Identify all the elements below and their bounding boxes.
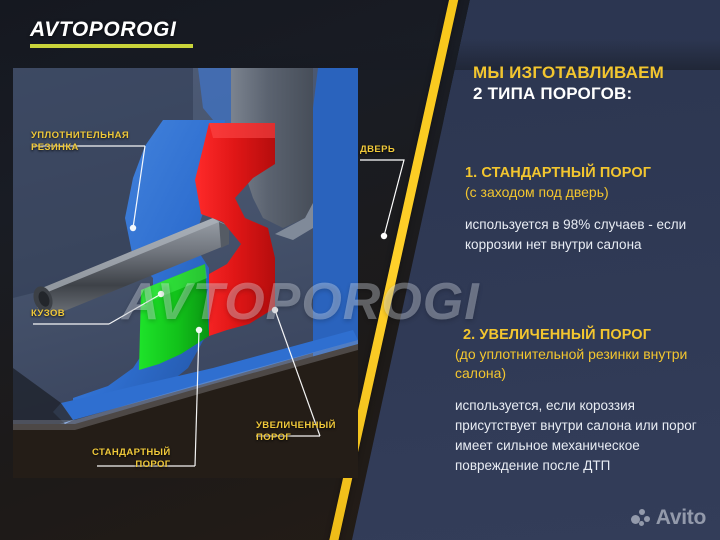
- avito-logo-icon: [631, 509, 651, 527]
- avito-wordmark: Avito: [656, 507, 706, 528]
- main-heading-line2: 2 ТИПА ПОРОГОВ:: [473, 83, 719, 104]
- label-standard-sill-line2: ПОРОГ: [92, 459, 171, 471]
- main-heading-line1: МЫ ИЗГОТАВЛИВАЕМ: [473, 62, 719, 83]
- label-rubber-seal-line1: УПЛОТНИТЕЛЬНАЯ: [31, 130, 129, 142]
- avito-watermark: Avito: [631, 507, 706, 528]
- section-standard-sill: 1. СТАНДАРТНЫЙ ПОРОГ (с заходом под двер…: [457, 164, 719, 255]
- brand-logo-text: AVTOPOROGI: [30, 19, 193, 40]
- label-door: ДВЕРЬ: [360, 144, 395, 156]
- info-column: МЫ ИЗГОТАВЛИВАЕМ 2 ТИПА ПОРОГОВ: 1. СТАН…: [451, 0, 720, 540]
- label-enlarged-sill: УВЕЛИЧЕННЫЙ ПОРОГ: [256, 420, 336, 444]
- brand-logo: AVTOPOROGI: [30, 19, 193, 48]
- infographic-root: AVTOPOROGI: [0, 0, 720, 540]
- label-car-body: КУЗОВ: [31, 308, 65, 320]
- label-rubber-seal: УПЛОТНИТЕЛЬНАЯ РЕЗИНКА: [31, 130, 129, 154]
- label-rubber-seal-line2: РЕЗИНКА: [31, 142, 129, 154]
- section-enlarged-title: 2. УВЕЛИЧЕННЫЙ ПОРОГ: [449, 326, 711, 345]
- brand-logo-underline: [30, 44, 193, 48]
- label-enlarged-sill-line1: УВЕЛИЧЕННЫЙ: [256, 420, 336, 432]
- section-standard-subtitle: (с заходом под дверь): [457, 183, 719, 202]
- diagram-red-highlight: [209, 123, 275, 138]
- section-standard-title: 1. СТАНДАРТНЫЙ ПОРОГ: [457, 164, 719, 183]
- section-enlarged-body: используется, если короззия присутствует…: [449, 396, 711, 476]
- label-enlarged-sill-line2: ПОРОГ: [256, 432, 336, 444]
- section-standard-body: используется в 98% случаев - если корроз…: [457, 215, 719, 255]
- label-standard-sill-line1: СТАНДАРТНЫЙ: [92, 447, 171, 459]
- section-enlarged-sill: 2. УВЕЛИЧЕННЫЙ ПОРОГ (до уплотнительной …: [449, 326, 711, 476]
- main-heading: МЫ ИЗГОТАВЛИВАЕМ 2 ТИПА ПОРОГОВ:: [473, 62, 719, 104]
- label-standard-sill: СТАНДАРТНЫЙ ПОРОГ: [92, 447, 171, 471]
- section-enlarged-subtitle: (до уплотнительной резинки внутри салона…: [449, 345, 711, 383]
- door-leader-line: [358, 140, 418, 270]
